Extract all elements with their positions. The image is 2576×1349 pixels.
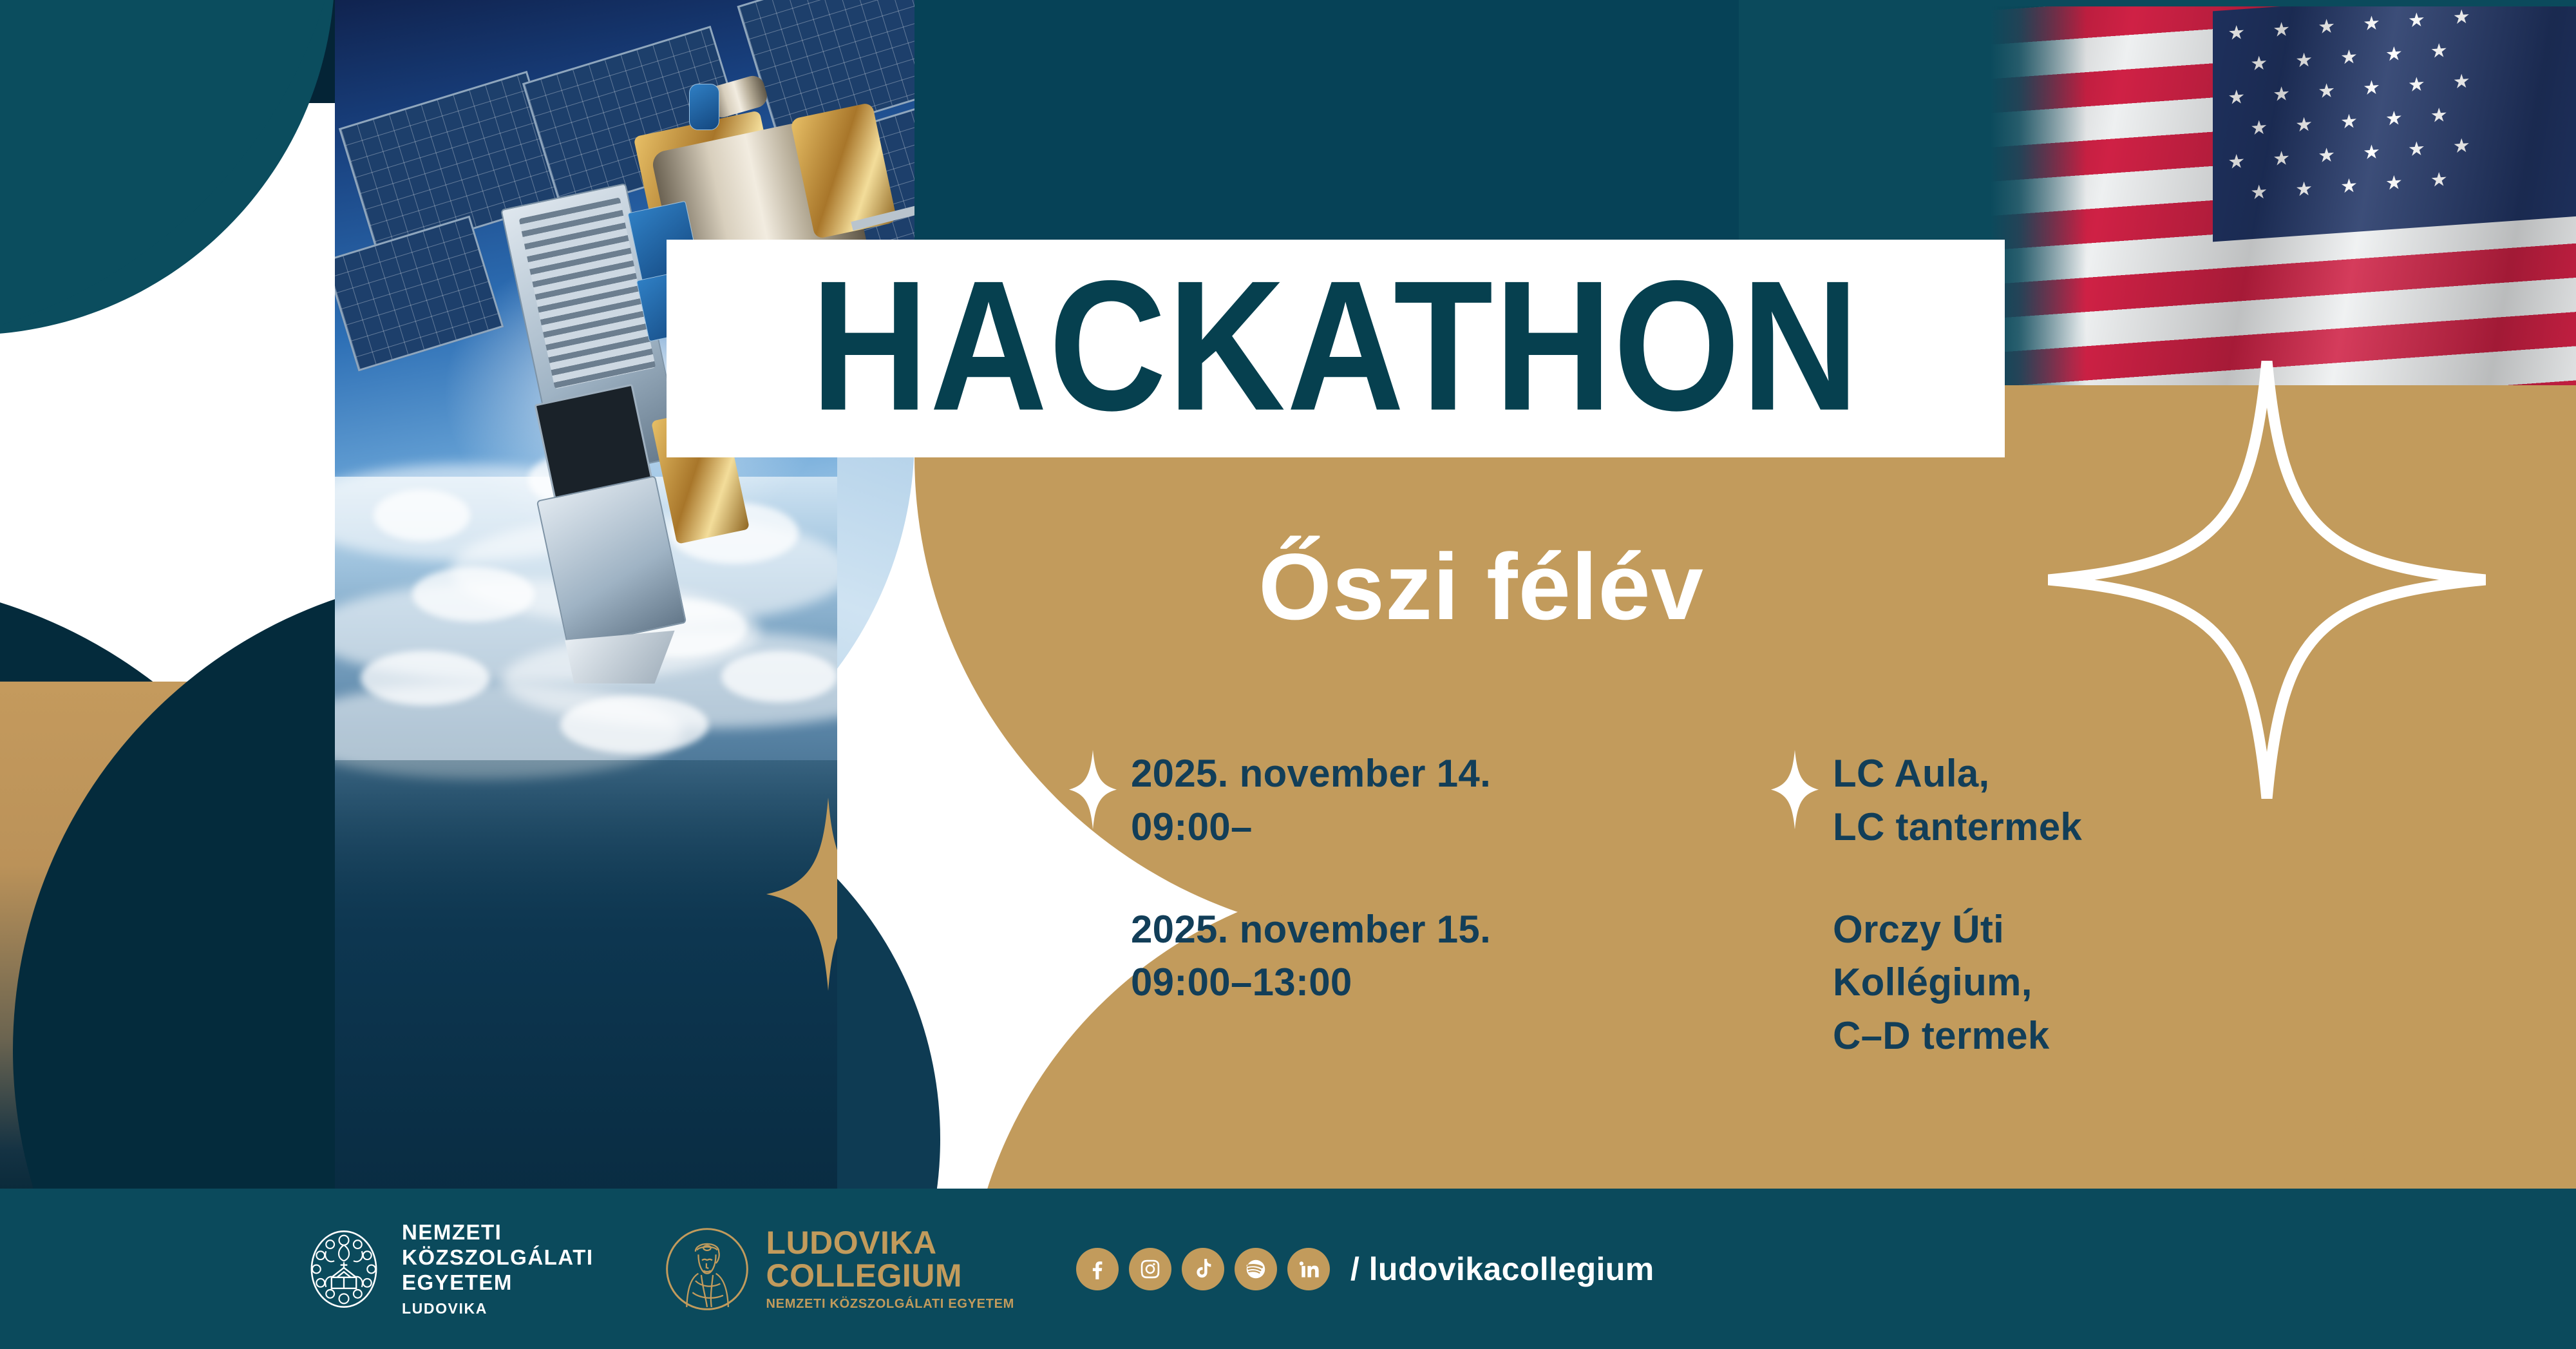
tiktok-icon[interactable]: [1182, 1248, 1224, 1290]
instagram-icon[interactable]: [1129, 1248, 1171, 1290]
event-date-text: 2025. november 15. 09:00–13:00: [1131, 903, 1491, 1010]
white-outline-sparkle: [2048, 361, 2486, 799]
poster-canvas: ★★ ★★ ★★ ★★ ★★ ★ ★★ ★★ ★★ ★★ ★★ ★ ★★ ★★ …: [0, 0, 2576, 1349]
nke-crest-icon: [303, 1228, 385, 1310]
logo-nke-sub: LUDOVIKA: [402, 1300, 594, 1317]
subtitle-text: Őszi félév: [914, 540, 2048, 634]
event-row: 2025. november 15. 09:00–13:00 Orczy Úti…: [1069, 903, 2460, 1063]
page-title: HACKATHON: [667, 265, 2005, 425]
ludovika-minerva-icon: [663, 1225, 751, 1313]
social-links: / ludovikacollegium: [1076, 1248, 1654, 1290]
logo-lc-line1: LUDOVIKA: [766, 1227, 1014, 1259]
logo-lc-line2: COLLEGIUM: [766, 1259, 1014, 1292]
footer-bar: NEMZETI KÖZSZOLGÁLATI EGYETEM LUDOVIKA: [0, 1189, 2576, 1349]
event-venue-item: Orczy Úti Kollégium, C–D termek: [1771, 903, 2050, 1063]
title-banner: HACKATHON: [667, 240, 2005, 457]
linkedin-icon[interactable]: [1287, 1248, 1330, 1290]
satellite-earth-photo: [335, 0, 914, 1192]
spotify-icon[interactable]: [1235, 1248, 1277, 1290]
event-venue-text: LC Aula, LC tantermek: [1833, 747, 2082, 854]
logo-nke-line3: EGYETEM: [402, 1270, 594, 1296]
logo-ludovika-collegium: LUDOVIKA COLLEGIUM NEMZETI KÖZSZOLGÁLATI…: [663, 1225, 1014, 1313]
event-venue-item: LC Aula, LC tantermek: [1771, 747, 2082, 854]
logo-nke-line2: KÖZSZOLGÁLATI: [402, 1245, 594, 1270]
logo-nke-line1: NEMZETI: [402, 1220, 594, 1245]
logo-nke: NEMZETI KÖZSZOLGÁLATI EGYETEM LUDOVIKA: [303, 1220, 594, 1317]
event-date-text: 2025. november 14. 09:00–: [1131, 747, 1491, 854]
sparkle-bullet-icon: [1069, 750, 1117, 825]
event-date-item: 2025. november 14. 09:00–: [1069, 747, 1771, 854]
event-row: 2025. november 14. 09:00– LC Aula, LC ta…: [1069, 747, 2460, 854]
logo-lc-sub: NEMZETI KÖZSZOLGÁLATI EGYETEM: [766, 1297, 1014, 1312]
social-handle[interactable]: / ludovikacollegium: [1350, 1250, 1654, 1288]
sparkle-bullet-icon: [1771, 750, 1819, 825]
subtitle-block: Őszi félév: [914, 540, 2048, 634]
event-date-item: 2025. november 15. 09:00–13:00: [1069, 903, 1771, 1010]
event-details: 2025. november 14. 09:00– LC Aula, LC ta…: [1069, 747, 2460, 1112]
event-venue-text: Orczy Úti Kollégium, C–D termek: [1833, 903, 2050, 1063]
facebook-icon[interactable]: [1076, 1248, 1119, 1290]
usa-flag-image: ★★ ★★ ★★ ★★ ★★ ★ ★★ ★★ ★★ ★★ ★★ ★ ★★ ★★ …: [1990, 6, 2576, 419]
